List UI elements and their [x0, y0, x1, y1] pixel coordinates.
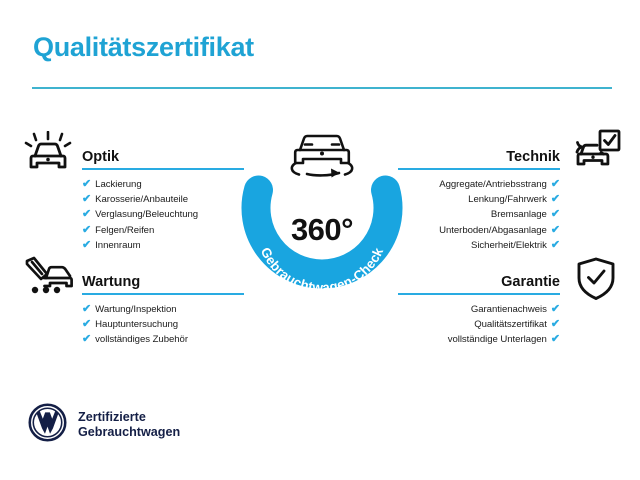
checklist-item: Unterboden/Abgasanlage✔: [398, 223, 560, 238]
section-technik-title: Technik: [506, 149, 560, 165]
section-garantie-title: Garantie: [501, 274, 560, 290]
check-icon: ✔: [551, 208, 560, 220]
check-icon: ✔: [82, 333, 91, 345]
checklist-item-label: Bremsanlage: [491, 209, 547, 220]
section-optik-title: Optik: [82, 149, 119, 165]
check-icon: ✔: [82, 318, 91, 330]
section-garantie-header: Garantie: [398, 265, 560, 295]
section-wartung-header: Wartung: [82, 265, 244, 295]
check-icon: ✔: [82, 303, 91, 315]
checklist-item-label: Unterboden/Abgasanlage: [439, 225, 547, 236]
section-garantie: Garantie Garantienachweis✔Qualitätszerti…: [398, 265, 560, 348]
checklist-item: ✔Lackierung: [82, 177, 244, 192]
check-icon: ✔: [551, 224, 560, 236]
section-wartung-list: ✔Wartung/Inspektion✔Hauptuntersuchung✔vo…: [82, 295, 244, 348]
badge-360-gebrauchtwagen-check: Gebrauchtwagen-Check 360°: [236, 118, 408, 310]
checklist-item-label: Felgen/Reifen: [95, 225, 154, 236]
section-technik: Technik Aggregate/Antriebsstrang✔Lenkung…: [398, 140, 560, 253]
section-garantie-list: Garantienachweis✔Qualitätszertifikat✔vol…: [398, 295, 560, 348]
checklist-item-label: Sicherheit/Elektrik: [471, 240, 547, 251]
checklist-item: ✔vollständiges Zubehör: [82, 332, 244, 347]
check-icon: ✔: [551, 318, 560, 330]
check-icon: ✔: [82, 224, 91, 236]
badge-value: 360°: [236, 212, 408, 248]
car-shine-icon: [24, 131, 72, 180]
check-icon: ✔: [551, 303, 560, 315]
checklist-item-label: Innenraum: [95, 240, 140, 251]
checklist-item: ✔Wartung/Inspektion: [82, 302, 244, 317]
checklist-item-label: Hauptuntersuchung: [95, 319, 178, 330]
section-technik-divider: [398, 168, 560, 170]
check-icon: ✔: [82, 208, 91, 220]
checklist-item-label: Qualitätszertifikat: [474, 319, 547, 330]
check-icon: ✔: [82, 193, 91, 205]
checklist-item: Sicherheit/Elektrik✔: [398, 238, 560, 253]
checklist-item-label: Lenkung/Fahrwerk: [468, 194, 547, 205]
checklist-item: Bremsanlage✔: [398, 207, 560, 222]
checklist-item-label: Lackierung: [95, 179, 141, 190]
checklist-item: vollständige Unterlagen✔: [398, 332, 560, 347]
checklist-item: ✔Felgen/Reifen: [82, 223, 244, 238]
section-optik: Optik ✔Lackierung✔Karosserie/Anbauteile✔…: [82, 140, 244, 253]
section-technik-list: Aggregate/Antriebsstrang✔Lenkung/Fahrwer…: [398, 170, 560, 253]
checklist-item: ✔Hauptuntersuchung: [82, 317, 244, 332]
footer-brand: Zertifizierte Gebrauchtwagen: [28, 403, 180, 447]
car-checkbox-icon: [570, 128, 622, 179]
checklist-item: Qualitätszertifikat✔: [398, 317, 560, 332]
section-optik-header: Optik: [82, 140, 244, 170]
section-optik-list: ✔Lackierung✔Karosserie/Anbauteile✔Vergla…: [82, 170, 244, 253]
section-garantie-divider: [398, 293, 560, 295]
car-service-pen-icon: [22, 256, 74, 307]
checklist-item: ✔Innenraum: [82, 238, 244, 253]
check-icon: ✔: [551, 178, 560, 190]
check-icon: ✔: [82, 239, 91, 251]
section-optik-divider: [82, 168, 244, 170]
section-wartung-title: Wartung: [82, 274, 140, 290]
section-technik-header: Technik: [398, 140, 560, 170]
checklist-item: Garantienachweis✔: [398, 302, 560, 317]
header-divider: [32, 87, 612, 89]
shield-check-icon: [574, 256, 618, 307]
check-icon: ✔: [82, 178, 91, 190]
checklist-item-label: Verglasung/Beleuchtung: [95, 209, 198, 220]
section-wartung-divider: [82, 293, 244, 295]
check-icon: ✔: [551, 333, 560, 345]
check-icon: ✔: [551, 239, 560, 251]
page-title: Qualitätszertifikat: [33, 32, 254, 63]
footer-brand-text: Zertifizierte Gebrauchtwagen: [78, 410, 180, 440]
checklist-item-label: Aggregate/Antriebsstrang: [439, 179, 547, 190]
section-wartung: Wartung ✔Wartung/Inspektion✔Hauptuntersu…: [82, 265, 244, 348]
checklist-item-label: vollständige Unterlagen: [448, 334, 547, 345]
checklist-item-label: vollständiges Zubehör: [95, 334, 188, 345]
checklist-item-label: Wartung/Inspektion: [95, 304, 176, 315]
checklist-item-label: Garantienachweis: [471, 304, 547, 315]
checklist-item: Lenkung/Fahrwerk✔: [398, 192, 560, 207]
vw-logo-icon: [28, 403, 67, 447]
checklist-item: Aggregate/Antriebsstrang✔: [398, 177, 560, 192]
checklist-item: ✔Karosserie/Anbauteile: [82, 192, 244, 207]
checklist-item-label: Karosserie/Anbauteile: [95, 194, 188, 205]
check-icon: ✔: [551, 193, 560, 205]
checklist-item: ✔Verglasung/Beleuchtung: [82, 207, 244, 222]
